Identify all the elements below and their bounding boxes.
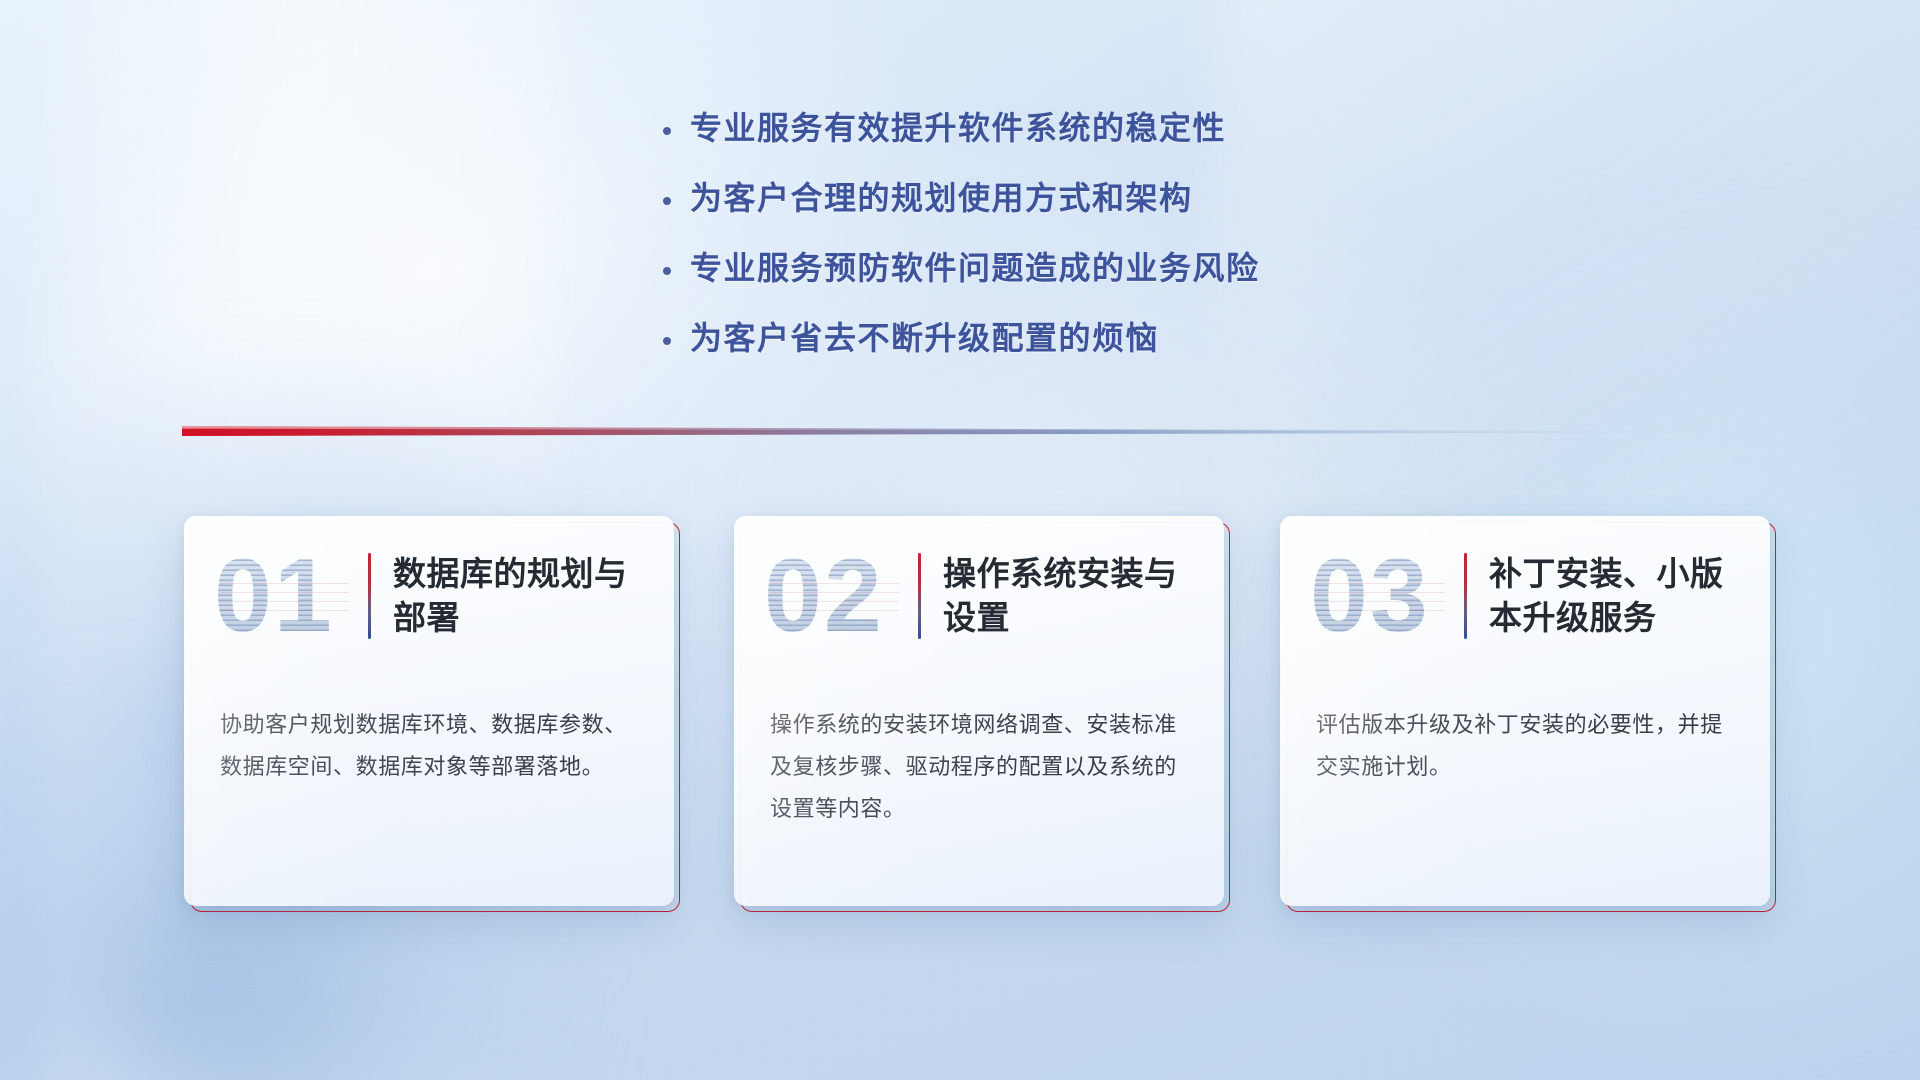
card-surface[interactable]: 02 操作系统安装与设置 操作系统的安装环境网络调查、安装标准及复核步骤、驱动程… bbox=[734, 516, 1224, 906]
bullet-dot-icon bbox=[660, 337, 690, 345]
card-accent-bar bbox=[918, 553, 921, 639]
card-title: 补丁安装、小版本升级服务 bbox=[1489, 552, 1744, 639]
list-item: 为客户省去不断升级配置的烦恼 bbox=[660, 318, 1480, 358]
card-header: 01 数据库的规划与部署 bbox=[184, 516, 674, 676]
card-number: 03 bbox=[1310, 541, 1460, 651]
bullet-dot-icon bbox=[660, 127, 690, 135]
section-divider bbox=[182, 422, 1712, 442]
benefits-bullet-list: 专业服务有效提升软件系统的稳定性 为客户合理的规划使用方式和架构 专业服务预防软… bbox=[660, 108, 1480, 358]
bullet-text: 为客户省去不断升级配置的烦恼 bbox=[690, 318, 1159, 358]
card-header: 02 操作系统安装与设置 bbox=[734, 516, 1224, 676]
bullet-text: 专业服务预防软件问题造成的业务风险 bbox=[690, 248, 1260, 288]
list-item: 为客户合理的规划使用方式和架构 bbox=[660, 178, 1480, 218]
card-surface[interactable]: 01 数据库的规划与部署 协助客户规划数据库环境、数据库参数、数据库空间、数据库… bbox=[184, 516, 674, 906]
bullet-text: 为客户合理的规划使用方式和架构 bbox=[690, 178, 1193, 218]
card-number: 01 bbox=[214, 541, 364, 651]
card-surface[interactable]: 03 补丁安装、小版本升级服务 评估版本升级及补丁安装的必要性，并提交实施计划。 bbox=[1280, 516, 1770, 906]
card-body-text: 评估版本升级及补丁安装的必要性，并提交实施计划。 bbox=[1280, 676, 1770, 788]
service-card-group: 01 数据库的规划与部署 协助客户规划数据库环境、数据库参数、数据库空间、数据库… bbox=[0, 516, 1920, 916]
card-header: 03 补丁安装、小版本升级服务 bbox=[1280, 516, 1770, 676]
card-accent-bar bbox=[1464, 553, 1467, 639]
service-card-01[interactable]: 01 数据库的规划与部署 协助客户规划数据库环境、数据库参数、数据库空间、数据库… bbox=[184, 516, 674, 906]
card-number: 02 bbox=[764, 541, 914, 651]
list-item: 专业服务预防软件问题造成的业务风险 bbox=[660, 248, 1480, 288]
card-body-text: 协助客户规划数据库环境、数据库参数、数据库空间、数据库对象等部署落地。 bbox=[184, 676, 674, 788]
card-title: 数据库的规划与部署 bbox=[393, 552, 648, 639]
slide-canvas: 专业服务有效提升软件系统的稳定性 为客户合理的规划使用方式和架构 专业服务预防软… bbox=[0, 0, 1920, 1080]
service-card-02[interactable]: 02 操作系统安装与设置 操作系统的安装环境网络调查、安装标准及复核步骤、驱动程… bbox=[734, 516, 1224, 906]
bullet-text: 专业服务有效提升软件系统的稳定性 bbox=[690, 108, 1226, 148]
bullet-dot-icon bbox=[660, 197, 690, 205]
card-accent-bar bbox=[368, 553, 371, 639]
list-item: 专业服务有效提升软件系统的稳定性 bbox=[660, 108, 1480, 148]
bullet-dot-icon bbox=[660, 267, 690, 275]
tapered-rule-icon bbox=[182, 422, 1712, 442]
service-card-03[interactable]: 03 补丁安装、小版本升级服务 评估版本升级及补丁安装的必要性，并提交实施计划。 bbox=[1280, 516, 1770, 906]
card-body-text: 操作系统的安装环境网络调查、安装标准及复核步骤、驱动程序的配置以及系统的设置等内… bbox=[734, 676, 1224, 831]
card-title: 操作系统安装与设置 bbox=[943, 552, 1198, 639]
